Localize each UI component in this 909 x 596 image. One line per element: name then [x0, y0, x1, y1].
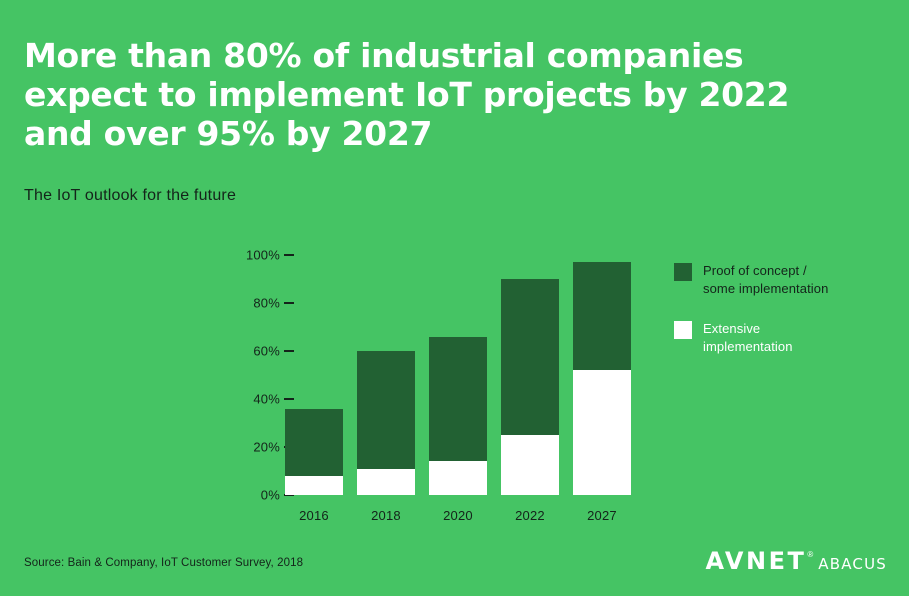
bar-segment-extensive[interactable]	[357, 469, 415, 495]
logo-trademark-icon: ®	[807, 551, 813, 559]
bar-2020[interactable]	[429, 337, 487, 495]
plot-area	[285, 255, 645, 495]
avnet-abacus-logo: AVNET ® ABACUS	[705, 549, 887, 573]
legend-label-line-2: implementation	[703, 339, 793, 354]
legend-swatch-icon	[674, 263, 692, 281]
x-axis-label-2018: 2018	[357, 508, 415, 523]
legend-label-line-2: some implementation	[703, 281, 828, 296]
legend-item-label: Proof of concept / some implementation	[703, 262, 828, 298]
y-axis-tick-label: 0%	[205, 488, 280, 503]
bar-segment-extensive[interactable]	[285, 476, 343, 495]
y-axis-tick-label: 80%	[205, 296, 280, 311]
bar-segment-extensive[interactable]	[573, 370, 631, 495]
source-note: Source: Bain & Company, IoT Customer Sur…	[24, 557, 303, 569]
x-axis-label-2020: 2020	[429, 508, 487, 523]
legend-swatch-icon	[674, 321, 692, 339]
bar-segment-extensive[interactable]	[429, 461, 487, 495]
y-axis-tick-label: 20%	[205, 440, 280, 455]
logo-division-text: ABACUS	[818, 557, 887, 572]
legend-label-line-1: Proof of concept /	[703, 263, 807, 278]
bar-segment-proof-of-concept[interactable]	[429, 337, 487, 462]
y-axis-tick-label: 40%	[205, 392, 280, 407]
bar-2016[interactable]	[285, 409, 343, 495]
bar-segment-proof-of-concept[interactable]	[357, 351, 415, 469]
legend-item-proof-of-concept[interactable]: Proof of concept / some implementation	[674, 262, 889, 298]
bar-2022[interactable]	[501, 279, 559, 495]
bar-segment-proof-of-concept[interactable]	[285, 409, 343, 476]
bar-segment-extensive[interactable]	[501, 435, 559, 495]
x-axis-label-2022: 2022	[501, 508, 559, 523]
bar-segment-proof-of-concept[interactable]	[573, 262, 631, 370]
chart-legend: Proof of concept / some implementation E…	[674, 262, 889, 378]
bar-segment-proof-of-concept[interactable]	[501, 279, 559, 435]
x-axis-label-2016: 2016	[285, 508, 343, 523]
bar-2027[interactable]	[573, 262, 631, 495]
y-axis-tick-label: 100%	[205, 248, 280, 263]
legend-item-extensive[interactable]: Extensive implementation	[674, 320, 889, 356]
x-axis-label-2027: 2027	[573, 508, 631, 523]
logo-brand-text: AVNET	[705, 549, 806, 573]
y-axis-tick-label: 60%	[205, 344, 280, 359]
legend-item-label: Extensive implementation	[703, 320, 793, 356]
legend-label-line-1: Extensive	[703, 321, 760, 336]
bar-2018[interactable]	[357, 351, 415, 495]
